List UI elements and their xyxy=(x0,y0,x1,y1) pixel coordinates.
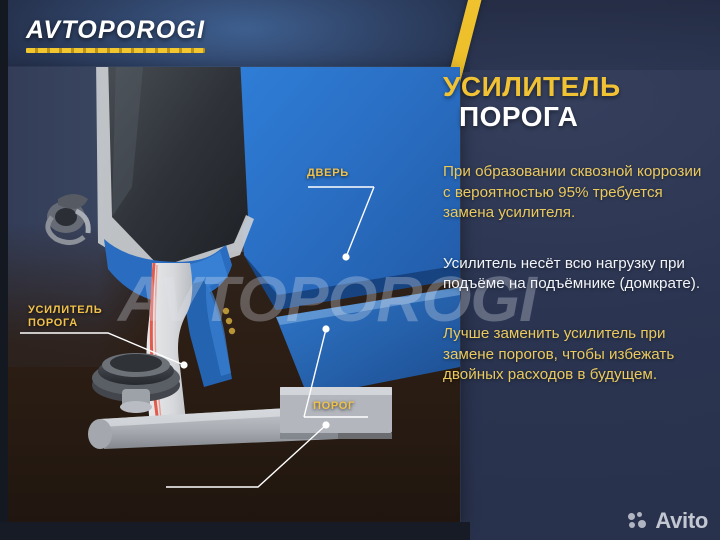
avito-dots-icon xyxy=(628,512,650,530)
frame-left-edge xyxy=(0,0,8,540)
frame-bottom-edge xyxy=(0,522,470,540)
logo-text: AVTOPOROGI xyxy=(26,18,205,43)
illustration-panel: УСИЛИТЕЛЬ ПОРОГА ДВЕРЬ ПОРОГ ПОДЪЁМНИК xyxy=(8,67,460,522)
callout-label-door: ДВЕРЬ xyxy=(307,167,349,180)
text-column: УСИЛИТЕЛЬ ПОРОГА При образовании сквозно… xyxy=(443,72,705,385)
callout-label-sill: ПОРОГ xyxy=(313,400,355,413)
avito-watermark: Avito xyxy=(628,510,708,532)
paragraph-corrosion: При образовании сквозной коррозии с веро… xyxy=(443,162,705,223)
page-title-line1: УСИЛИТЕЛЬ xyxy=(443,71,621,102)
paragraph-load: Усилитель несёт всю нагрузку при подъёме… xyxy=(443,254,705,295)
page-title: УСИЛИТЕЛЬ ПОРОГА xyxy=(443,72,705,132)
advertisement-card: УСИЛИТЕЛЬ ПОРОГА ДВЕРЬ ПОРОГ ПОДЪЁМНИК A… xyxy=(0,0,720,540)
logo[interactable]: AVTOPOROGI xyxy=(26,18,205,53)
car-sill-cross-section-illustration xyxy=(8,67,460,522)
callout-label-reinforcement: УСИЛИТЕЛЬ ПОРОГА xyxy=(28,304,102,331)
paragraph-advice: Лучше заменить усилитель при замене поро… xyxy=(443,324,705,385)
logo-underline-bar xyxy=(26,48,205,53)
avito-wordmark: Avito xyxy=(655,510,708,532)
page-title-line2: ПОРОГА xyxy=(459,102,705,132)
